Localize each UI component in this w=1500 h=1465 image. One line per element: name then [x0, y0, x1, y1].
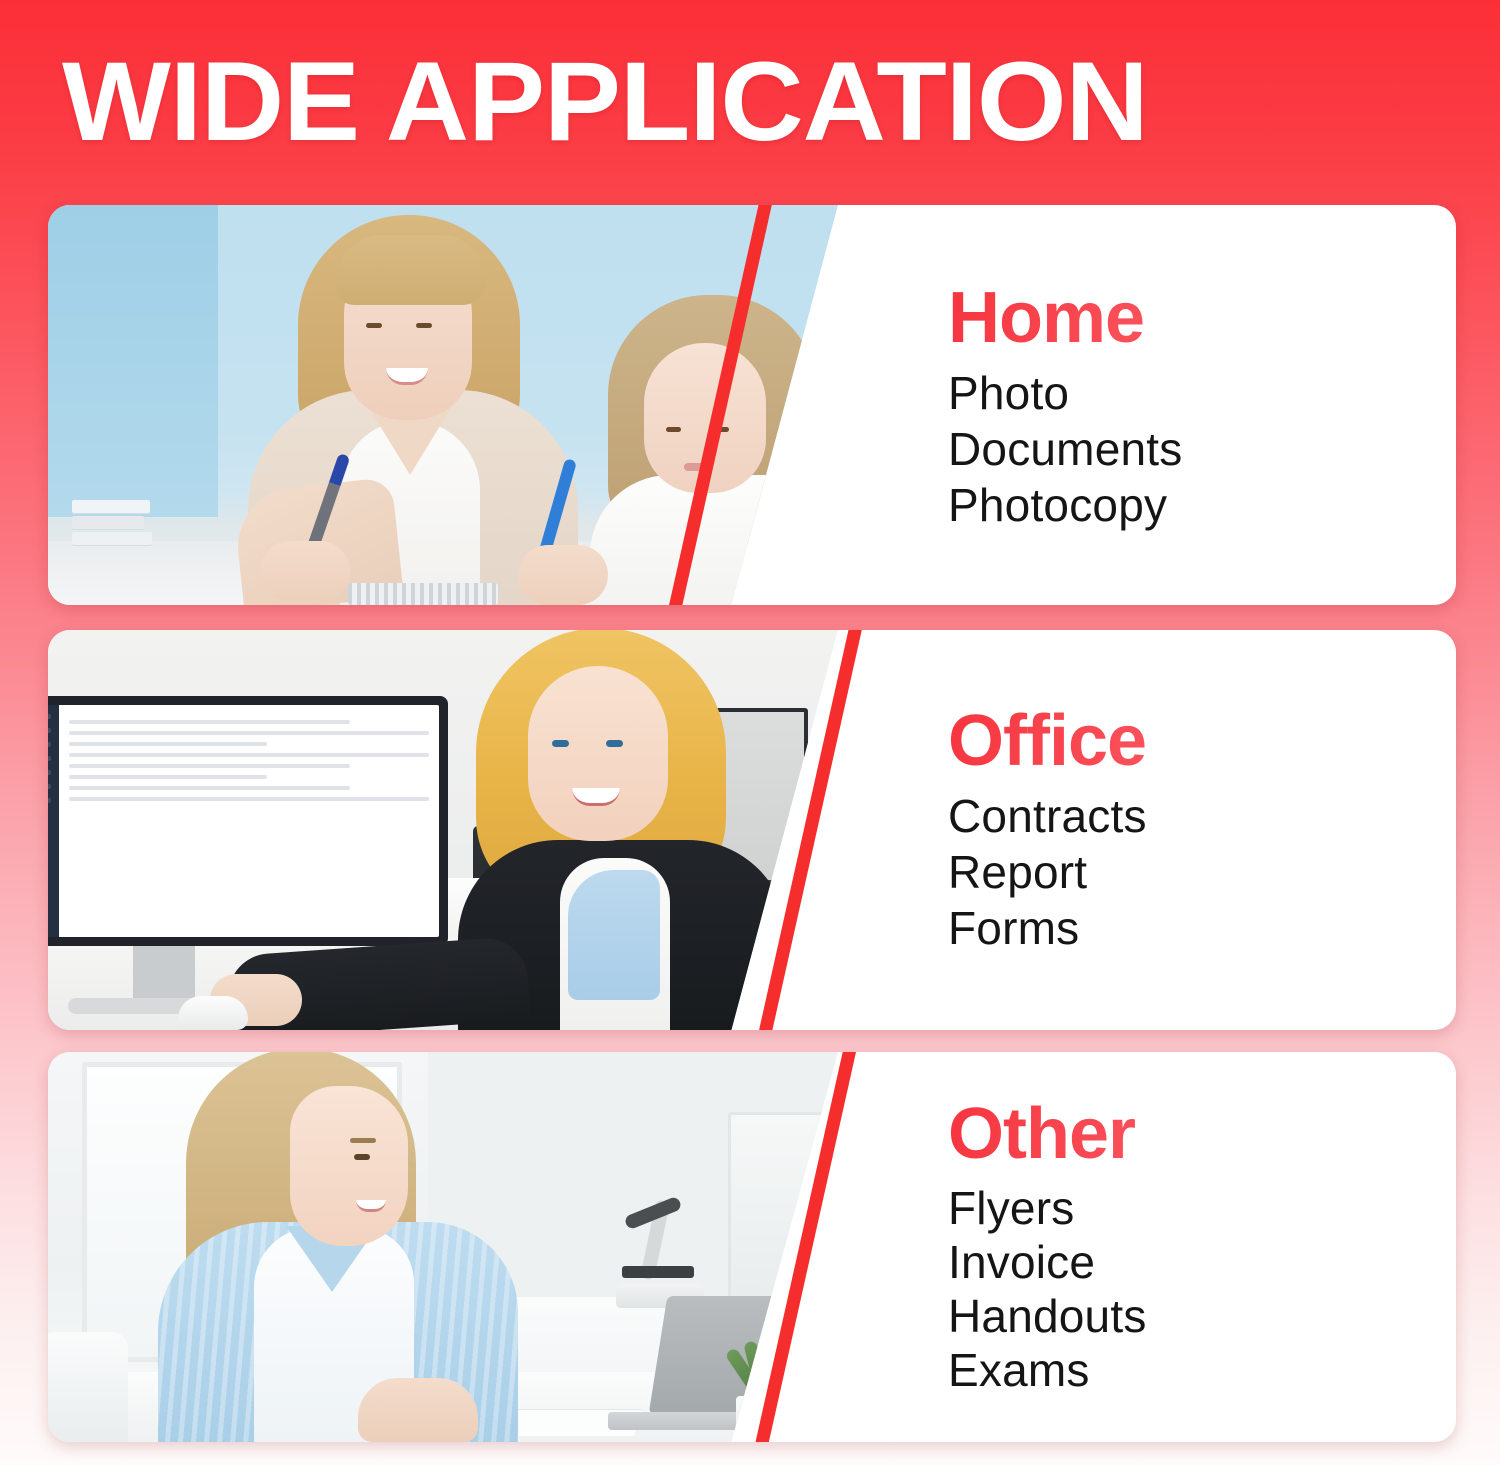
photo-woman-figure [158, 1052, 578, 1442]
card-text-other: Other Flyers Invoice Handouts Exams [896, 1052, 1456, 1442]
card-photo-office [48, 630, 838, 1030]
microscope-icon [608, 1200, 708, 1310]
photo-girl-top [590, 475, 838, 605]
list-item: Photo [948, 365, 1456, 421]
application-card-home: Home Photo Documents Photocopy [48, 205, 1456, 605]
application-card-office: Office Contracts Report Forms [48, 630, 1456, 1030]
photo-illustration-other [48, 1052, 838, 1442]
photo-woman-eyebrow [350, 1138, 376, 1143]
card-heading-other: Other [948, 1097, 1456, 1171]
photo-woman-bow-tie [568, 870, 660, 1000]
photo-monitor-stand [133, 946, 195, 1004]
page-title: WIDE APPLICATION [62, 46, 1148, 158]
photo-woman-face [290, 1086, 408, 1246]
card-text-office: Office Contracts Report Forms [896, 630, 1456, 1030]
list-item: Report [948, 844, 1456, 900]
photo-monitor [48, 696, 448, 946]
list-item: Documents [948, 421, 1456, 477]
photo-woman-eye-right [606, 740, 623, 747]
card-heading-home: Home [948, 281, 1456, 355]
card-photo-other [48, 1052, 838, 1442]
list-item: Exams [948, 1343, 1456, 1397]
card-text-home: Home Photo Documents Photocopy [896, 205, 1456, 605]
photo-illustration-office [48, 630, 838, 1030]
photo-chair [48, 1332, 128, 1442]
photo-notepad [348, 583, 498, 605]
photo-woman-clasped-hands [358, 1378, 478, 1442]
list-item: Handouts [948, 1289, 1456, 1343]
photo-computer-mouse [178, 996, 248, 1030]
application-card-other: Other Flyers Invoice Handouts Exams [48, 1052, 1456, 1442]
list-item: Invoice [948, 1235, 1456, 1289]
list-item: Forms [948, 900, 1456, 956]
photo-woman-eye [354, 1154, 370, 1160]
photo-woman-fringe [336, 235, 486, 305]
card-heading-office: Office [948, 704, 1456, 778]
photo-woman-eye-right [416, 323, 432, 328]
photo-wall-panel [48, 205, 218, 517]
list-item: Contracts [948, 788, 1456, 844]
photo-book-stack [72, 475, 152, 545]
photo-girl-hand [518, 545, 608, 605]
photo-screen-content [59, 705, 439, 937]
list-item: Photocopy [948, 477, 1456, 533]
photo-woman-eye-left [366, 323, 382, 328]
photo-monitor-screen [48, 705, 439, 937]
card-list-home: Photo Documents Photocopy [948, 365, 1456, 533]
photo-woman-figure [448, 630, 808, 1030]
photo-woman-hand [260, 541, 350, 601]
list-item: Flyers [948, 1181, 1456, 1235]
photo-woman-eye-left [552, 740, 569, 747]
photo-girl-eye-left [666, 427, 681, 432]
photo-screen-sidebar [48, 705, 59, 937]
card-list-office: Contracts Report Forms [948, 788, 1456, 956]
photo-woman-face [528, 666, 668, 841]
card-list-other: Flyers Invoice Handouts Exams [948, 1181, 1456, 1397]
header-banner: WIDE APPLICATION [0, 0, 1500, 190]
